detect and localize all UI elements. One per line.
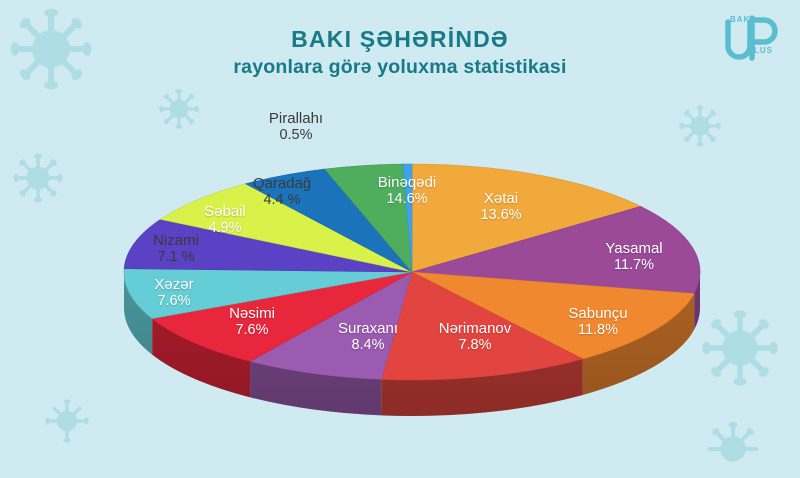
slice-value: 11.7%	[582, 257, 686, 274]
slice-label-sabuncu: Sabunçu 11.8%	[546, 305, 650, 339]
slice-name: Xəzər	[132, 276, 216, 293]
slice-value: 14.6%	[355, 191, 459, 208]
slice-name: Binəqədi	[355, 174, 459, 191]
slice-name: Nəsimi	[209, 305, 295, 322]
slice-name: Qaradağ	[232, 175, 332, 192]
infographic-canvas: BAKI LUS BAKI ŞƏHƏRİNDƏ rayonlara görə y…	[0, 0, 800, 449]
slice-name: Nərimanov	[420, 320, 530, 337]
slice-label-nesimi: Nəsimi 7.6%	[209, 305, 295, 339]
slice-label-narimanov: Nərimanov 7.8%	[420, 320, 530, 354]
virus-decoration-icon	[44, 398, 90, 444]
slice-label-xezer: Xəzər 7.6%	[132, 276, 216, 310]
virus-decoration-icon	[12, 152, 64, 204]
virus-decoration-icon	[678, 104, 722, 148]
slice-label-xetai: Xətai 13.6%	[456, 190, 546, 224]
slice-value: 11.8%	[546, 322, 650, 339]
slice-value: 7.1 %	[131, 249, 221, 266]
slice-value: 7.6%	[132, 293, 216, 310]
slice-name: Nizami	[131, 232, 221, 249]
slice-value: 0.5%	[246, 127, 346, 144]
virus-decoration-icon	[704, 420, 762, 478]
slice-value: 7.6%	[209, 322, 295, 339]
slice-label-binaqadi: Binəqədi 14.6%	[355, 174, 459, 208]
slice-name: Suraxanı	[320, 320, 416, 337]
slice-label-suraxani: Suraxanı 8.4%	[320, 320, 416, 354]
title-main: BAKI ŞƏHƏRİNDƏ	[0, 26, 800, 52]
virus-decoration-icon	[700, 308, 780, 388]
slice-name: Pirallahı	[246, 110, 346, 127]
slice-name: Səbail	[180, 203, 270, 220]
slice-name: Sabunçu	[546, 305, 650, 322]
slice-name: Xətai	[456, 190, 546, 207]
slice-value: 8.4%	[320, 337, 416, 354]
virus-decoration-icon	[158, 88, 200, 130]
slice-label-pirallahi: Pirallahı 0.5%	[246, 110, 346, 144]
slice-name: Yasamal	[582, 240, 686, 257]
page-title: BAKI ŞƏHƏRİNDƏ rayonlara görə yoluxma st…	[0, 26, 800, 79]
title-subtitle: rayonlara görə yoluxma statistikasi	[0, 55, 800, 79]
slice-value: 7.8%	[420, 337, 530, 354]
slice-value: 13.6%	[456, 207, 546, 224]
slice-label-nizami: Nizami 7.1 %	[131, 232, 221, 266]
slice-label-yasamal: Yasamal 11.7%	[582, 240, 686, 274]
